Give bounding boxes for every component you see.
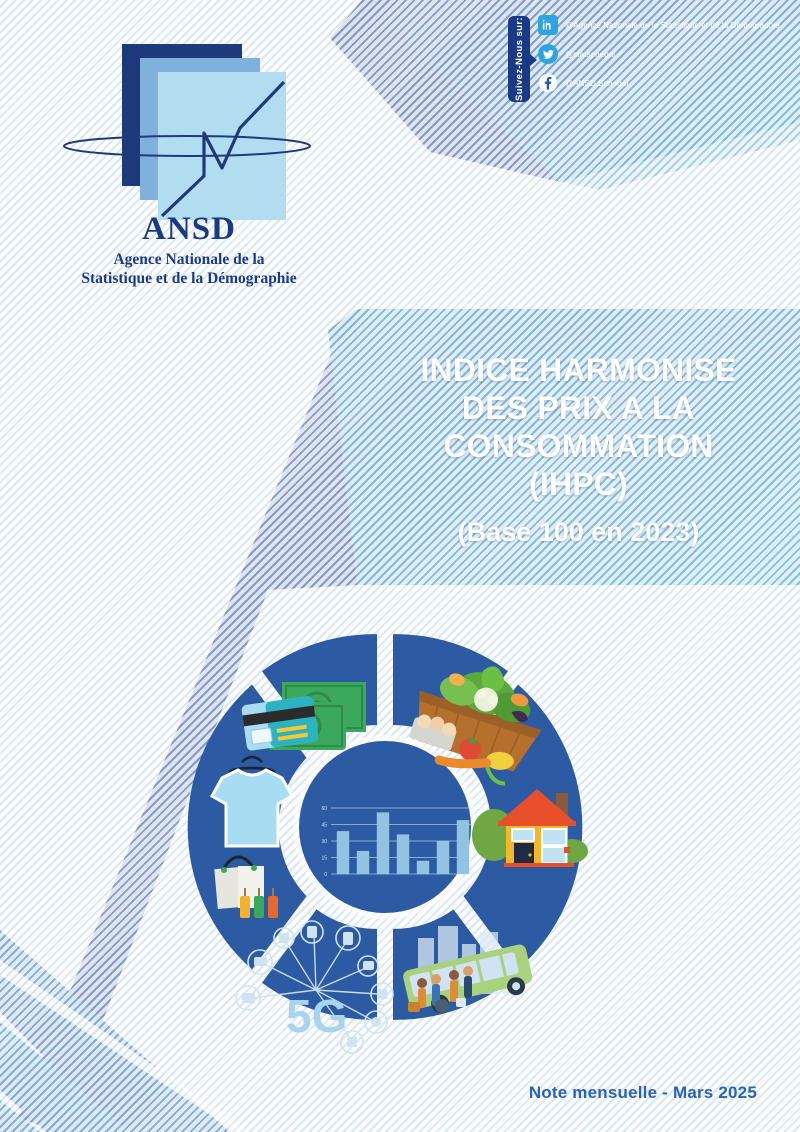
footer-note: Note mensuelle - Mars 2025 [0,1083,757,1103]
social-handle-facebook: @ANSD.Senegal [565,79,628,88]
title-line-4: (IHPC) [420,465,736,503]
chart-bar [417,861,429,874]
social-row-facebook[interactable]: @ANSD.Senegal [538,73,780,93]
social-follow-block: Suivez-Nous sur: @Agence Nationale de la… [508,14,800,110]
title-subtitle: (Base 100 en 2023) [458,517,700,548]
facebook-icon[interactable] [538,73,558,93]
svg-text:60: 60 [321,806,327,812]
logo-graph-icon [44,28,334,228]
svg-text:0: 0 [324,872,327,878]
svg-text:15: 15 [321,856,327,862]
chart-bar [397,834,409,874]
chart-bar [457,820,469,874]
chart-bar [357,851,369,874]
title-line-1: INDICE HARMONISE [420,351,736,389]
title-line-2: DES PRIX A LA [420,389,736,427]
page-title: INDICE HARMONISE DES PRIX A LA CONSOMMAT… [402,351,754,503]
follow-us-tab: Suivez-Nous sur: [508,16,530,102]
document-title-block: INDICE HARMONISE DES PRIX A LA CONSOMMAT… [357,309,800,585]
logo-fullname-line2: Statistique et de la Démographie [44,269,334,288]
ansd-logo: ANSD Agence Nationale de la Statistique … [44,28,334,288]
social-row-linkedin[interactable]: @Agence Nationale de la Statistique et d… [538,15,780,35]
chart-bars [337,812,469,874]
chart-bar [437,841,449,874]
social-handle-linkedin: @Agence Nationale de la Statistique et d… [565,21,780,30]
central-bar-chart: 015304560 [305,800,475,890]
linkedin-icon[interactable] [538,15,558,35]
chart-bar [337,831,349,874]
logo-fullname: Agence Nationale de la Statistique et de… [44,250,334,288]
title-line-3: CONSOMMATION [420,427,736,465]
cover-page: Suivez-Nous sur: @Agence Nationale de la… [0,0,800,1132]
follow-us-label: Suivez-Nous sur: [514,17,525,101]
svg-text:45: 45 [321,823,327,829]
chart-y-axis-labels: 015304560 [321,806,327,878]
logo-fullname-line1: Agence Nationale de la [44,250,334,269]
social-row-twitter[interactable]: @statsenegal [538,44,780,64]
credit-card-and-cash-icon: $ $ [241,682,366,751]
chart-bar [377,812,389,874]
twitter-icon[interactable] [538,44,558,64]
social-handle-twitter: @statsenegal [565,50,615,59]
logo-acronym: ANSD [44,211,334,248]
svg-text:30: 30 [321,839,327,845]
5g-label: 5G [286,990,347,1042]
